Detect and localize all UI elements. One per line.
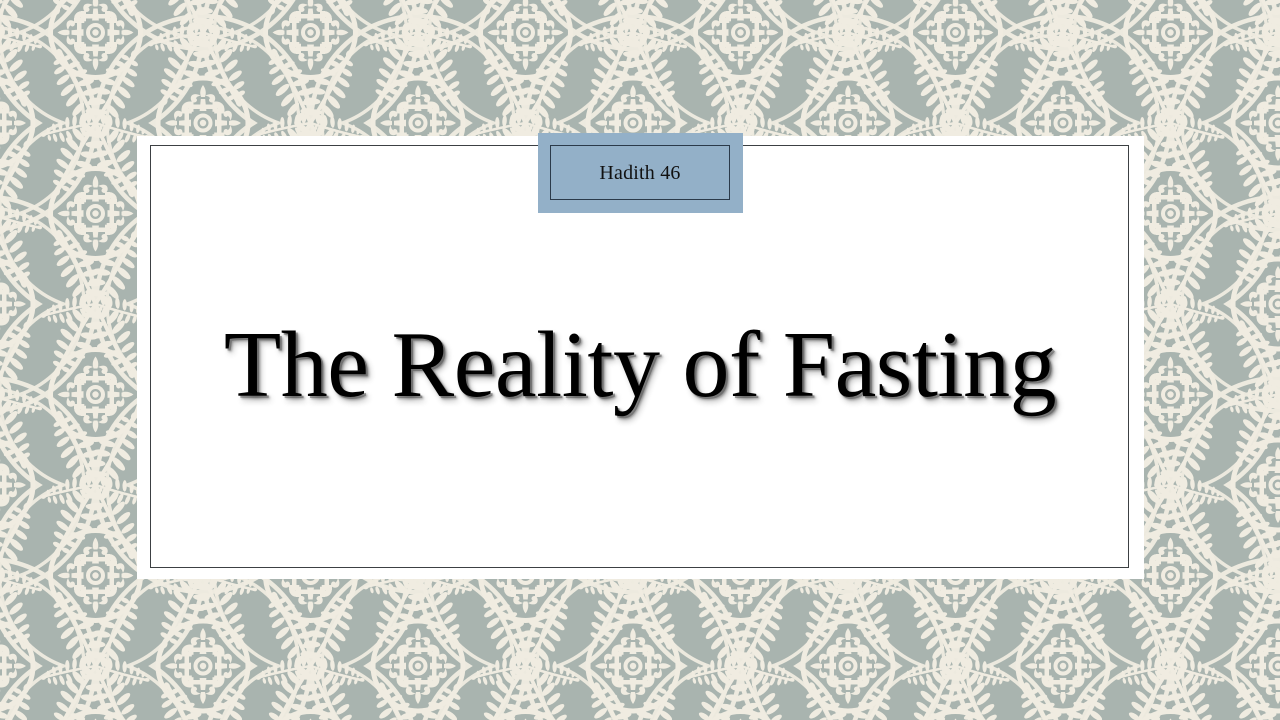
slide-title: The Reality of Fasting [224, 316, 1056, 415]
hadith-label-text: Hadith 46 [550, 145, 730, 200]
hadith-label-box[interactable]: Hadith 46 [538, 133, 743, 213]
presentation-slide: Hadith 46 The Reality of Fasting [0, 0, 1280, 720]
slide-title-area: The Reality of Fasting [150, 290, 1130, 440]
